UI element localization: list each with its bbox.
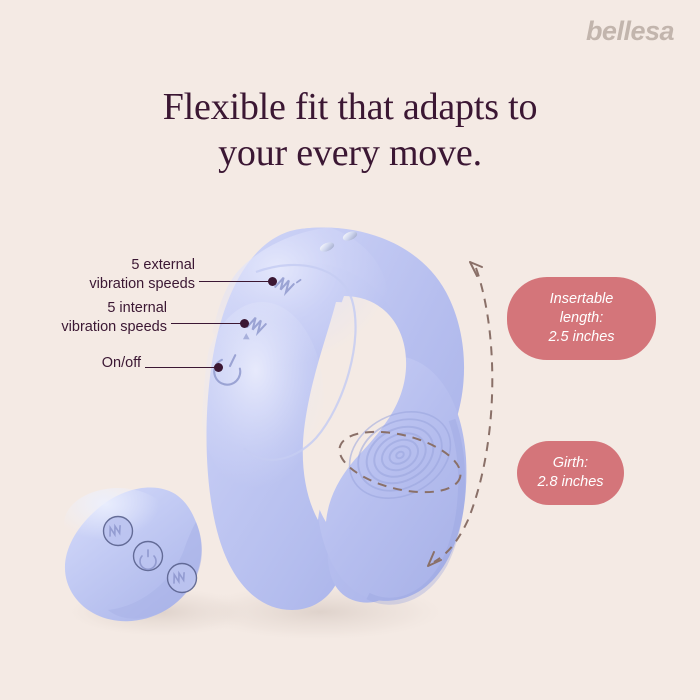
spec-value-insertable-length: 2.5 inches [526, 328, 637, 347]
annotation-power-line1: On/off [102, 354, 141, 373]
leader-dot-external [268, 277, 277, 286]
annotation-power: On/off [102, 354, 141, 373]
brand-logo: bellesa [586, 16, 674, 47]
spec-label-girth: Girth: [536, 454, 605, 473]
leader-line-internal [171, 323, 243, 324]
annotation-external-speeds-line2: vibration speeds [89, 275, 195, 294]
product-feature-image: bellesa Flexible fit that adapts to your… [0, 0, 700, 700]
remote-power-button [134, 542, 163, 571]
annotation-internal-speeds-line2: vibration speeds [61, 318, 167, 337]
annotation-internal-speeds: 5 internal vibration speeds [61, 299, 167, 336]
leader-dot-power [214, 363, 223, 372]
leader-line-external [199, 281, 271, 282]
annotation-external-speeds: 5 external vibration speeds [89, 256, 195, 293]
spec-badge-girth: Girth: 2.8 inches [517, 441, 624, 505]
leader-line-power [145, 367, 217, 368]
leader-dot-internal [240, 319, 249, 328]
annotation-external-speeds-line1: 5 external [89, 256, 195, 275]
annotation-internal-speeds-line1: 5 internal [61, 299, 167, 318]
spec-label-insertable-length: Insertable length: [526, 290, 637, 328]
remote-wave-up-button [104, 517, 133, 546]
remote-wave-down-button [168, 564, 197, 593]
body-highlight-pad [200, 302, 324, 498]
headline-line-1: Flexible fit that adapts to [0, 84, 700, 130]
spec-badge-insertable-length: Insertable length: 2.5 inches [507, 277, 656, 360]
spec-value-girth: 2.8 inches [536, 473, 605, 492]
headline-line-2: your every move. [0, 130, 700, 176]
page-title: Flexible fit that adapts to your every m… [0, 84, 700, 177]
